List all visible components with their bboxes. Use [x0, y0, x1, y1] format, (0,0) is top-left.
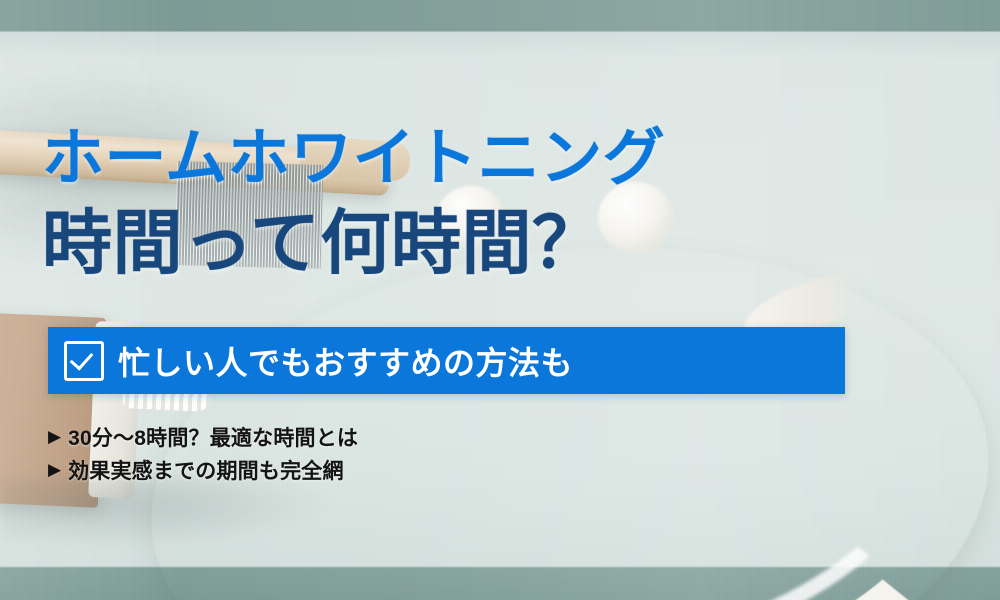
- list-item: ▶ 30分〜8時間？最適な時間とは: [48, 420, 358, 453]
- headline-line-1: ホームホワイトニング: [42, 128, 665, 190]
- checkbox-checked-icon: [64, 341, 104, 381]
- subtitle-banner: 忙しい人でもおすすめの方法も: [48, 327, 845, 394]
- subtitle-banner-text: 忙しい人でもおすすめの方法も: [118, 338, 573, 384]
- triangle-right-icon: ▶: [48, 428, 61, 445]
- list-item-label: 効果実感までの期間も完全網: [68, 455, 344, 485]
- headline-line-2: 時間って何時間？: [42, 208, 603, 278]
- triangle-right-icon: ▶: [48, 461, 61, 478]
- bullet-list: ▶ 30分〜8時間？最適な時間とは ▶ 効果実感までの期間も完全網: [48, 420, 358, 486]
- thumbnail-canvas: ホームホワイトニング 時間って何時間？ 忙しい人でもおすすめの方法も ▶ 30分…: [0, 0, 1000, 600]
- list-item: ▶ 効果実感までの期間も完全網: [48, 453, 358, 486]
- toothpaste-tube-shadow: [0, 476, 330, 546]
- list-item-label: 30分〜8時間？最適な時間とは: [68, 422, 358, 452]
